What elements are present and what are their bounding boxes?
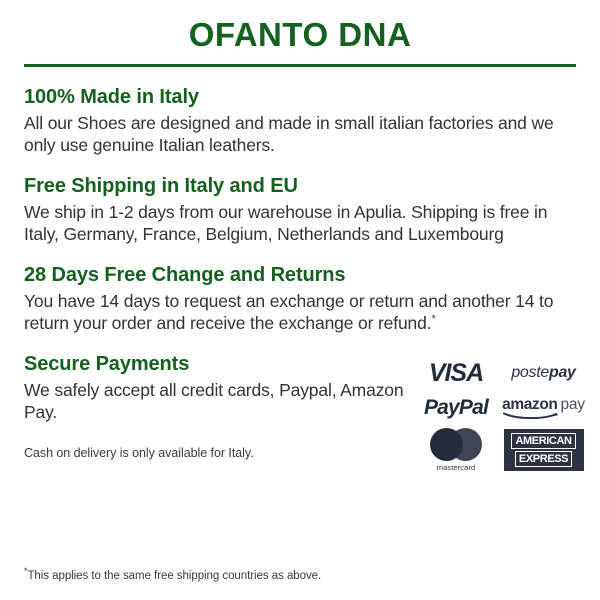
postepay-icon: postepay [511,364,575,382]
postepay-label-light: poste [511,364,549,381]
header: OFANTO DNA [0,0,600,67]
amex-icon: AMERICAN EXPRESS [504,429,584,471]
page-footnote-text: This applies to the same free shipping c… [27,570,321,582]
section-change-and-returns: 28 Days Free Change and Returns You have… [24,263,576,334]
amazon-pay-label-bold: amazon [502,396,557,413]
mastercard-circles-icon [430,428,482,461]
paypal-icon: PayPal [424,396,488,420]
section-heading-made-in-italy: 100% Made in Italy [24,85,576,109]
section-secure-payments: Secure Payments We safely accept all cre… [24,352,576,474]
amazon-smile-arrow-icon [503,412,559,419]
amazon-pay-icon: amazonpay [502,397,585,419]
amex-logo-cell: AMERICAN EXPRESS [498,426,589,474]
amazon-pay-label-light: pay [560,396,584,413]
paypal-logo-cell: PayPal [414,390,498,426]
mastercard-icon: mastercard [430,428,482,472]
ofanto-dna-info-panel: OFANTO DNA 100% Made in Italy All our Sh… [0,0,600,600]
mastercard-circle-right [449,428,482,461]
section-heading-change-and-returns: 28 Days Free Change and Returns [24,263,576,287]
section-free-shipping: Free Shipping in Italy and EU We ship in… [24,174,576,245]
visa-logo-cell: VISA [414,356,498,390]
page-title: OFANTO DNA [24,16,576,54]
section-heading-free-shipping: Free Shipping in Italy and EU [24,174,576,198]
mastercard-logo-cell: mastercard [414,426,498,474]
secure-payments-text-block: Secure Payments We safely accept all cre… [24,352,414,461]
amazon-pay-logo-cell: amazonpay [498,390,589,426]
section-body-made-in-italy: All our Shoes are designed and made in s… [24,112,576,156]
section-body-free-shipping: We ship in 1-2 days from our warehouse i… [24,201,576,245]
page-footnote: *This applies to the same free shipping … [24,569,321,584]
content-area: 100% Made in Italy All our Shoes are des… [0,85,600,474]
title-divider [24,64,576,67]
section-body-change-and-returns-text: You have 14 days to request an exchange … [24,291,553,333]
postepay-logo-cell: postepay [498,356,589,390]
section-heading-secure-payments: Secure Payments [24,352,414,376]
section-body-change-and-returns: You have 14 days to request an exchange … [24,290,576,334]
payment-logo-grid: VISA postepay PayPal amazonpay [414,356,589,474]
postepay-label-bold: pay [549,364,576,381]
section-body-secure-payments: We safely accept all credit cards, Paypa… [24,379,414,423]
section-made-in-italy: 100% Made in Italy All our Shoes are des… [24,85,576,156]
returns-footnote-marker: * [431,313,435,325]
amex-label-line2: EXPRESS [515,451,572,467]
cash-on-delivery-note: Cash on delivery is only available for I… [24,445,414,461]
mastercard-label: mastercard [437,463,476,472]
amex-label-line1: AMERICAN [511,433,575,449]
visa-icon: VISA [429,359,483,388]
